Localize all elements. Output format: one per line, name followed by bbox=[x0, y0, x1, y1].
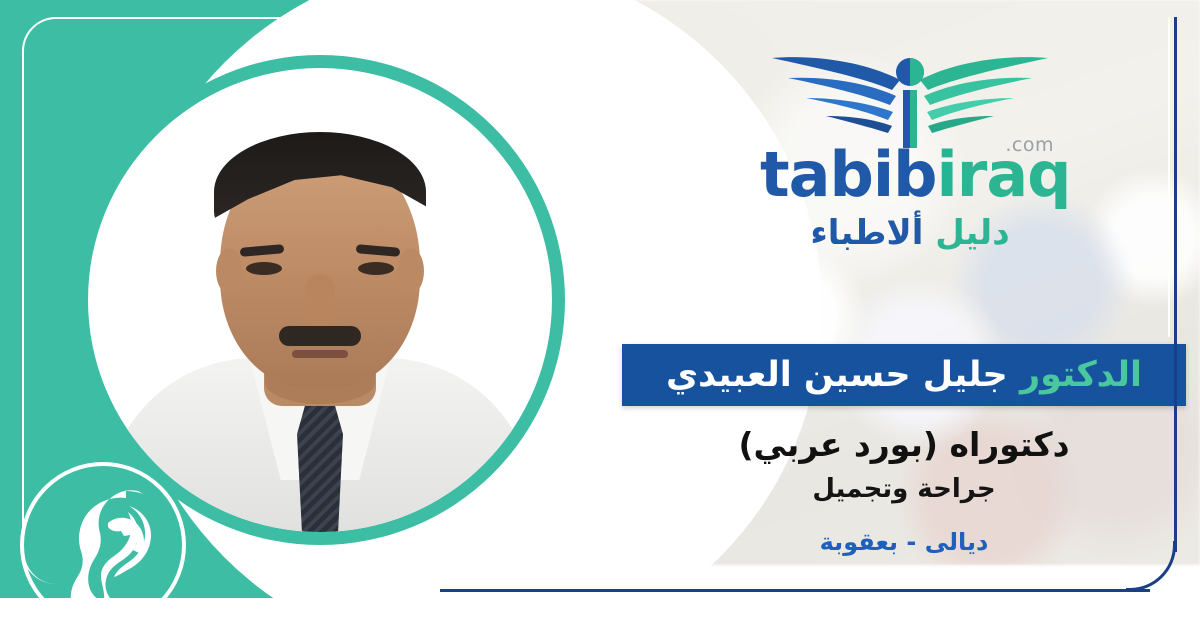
logo-tagline: دليل ألاطباء bbox=[760, 216, 1060, 250]
frame-right-border bbox=[1174, 17, 1177, 552]
doctor-title-prefix: الدكتور bbox=[1020, 355, 1142, 395]
tagline-blue-word: ألاطباء bbox=[810, 213, 923, 253]
doctor-info-block: دكتوراه (بورد عربي) جراحة وتجميل ديالى -… bbox=[622, 424, 1186, 561]
doctor-name-banner: الدكتور جليل حسين العبيدي bbox=[622, 344, 1186, 406]
frame-white-accent bbox=[1168, 17, 1170, 337]
tagline-green-word: دليل bbox=[935, 213, 1009, 253]
doctor-degree: دكتوراه (بورد عربي) bbox=[622, 424, 1186, 465]
logo-word-divider: i bbox=[937, 138, 957, 211]
doctor-name-text: الدكتور جليل حسين العبيدي bbox=[666, 355, 1142, 395]
clinic-badge bbox=[20, 462, 186, 628]
frame-bottom-right-corner bbox=[1126, 541, 1176, 591]
winged-caduceus-icon bbox=[760, 38, 1060, 148]
logo-word-iraq: raq bbox=[957, 138, 1071, 211]
logo-wordmark: tabibiraq bbox=[760, 144, 1060, 206]
doctor-location: ديالى - بعقوبة bbox=[622, 523, 1186, 561]
frame-bottom-border bbox=[440, 589, 1150, 592]
doctor-name: جليل حسين العبيدي bbox=[666, 355, 1008, 395]
doctor-profile-card: .com tabibiraq دليل ألاطباء الدكتور جليل… bbox=[0, 0, 1200, 628]
woman-face-profile-icon bbox=[34, 476, 172, 614]
logo-word-tabib: tabib bbox=[760, 138, 937, 211]
doctor-specialty: جراحة وتجميل bbox=[622, 469, 1186, 511]
brand-logo[interactable]: .com tabibiraq دليل ألاطباء bbox=[760, 38, 1060, 268]
